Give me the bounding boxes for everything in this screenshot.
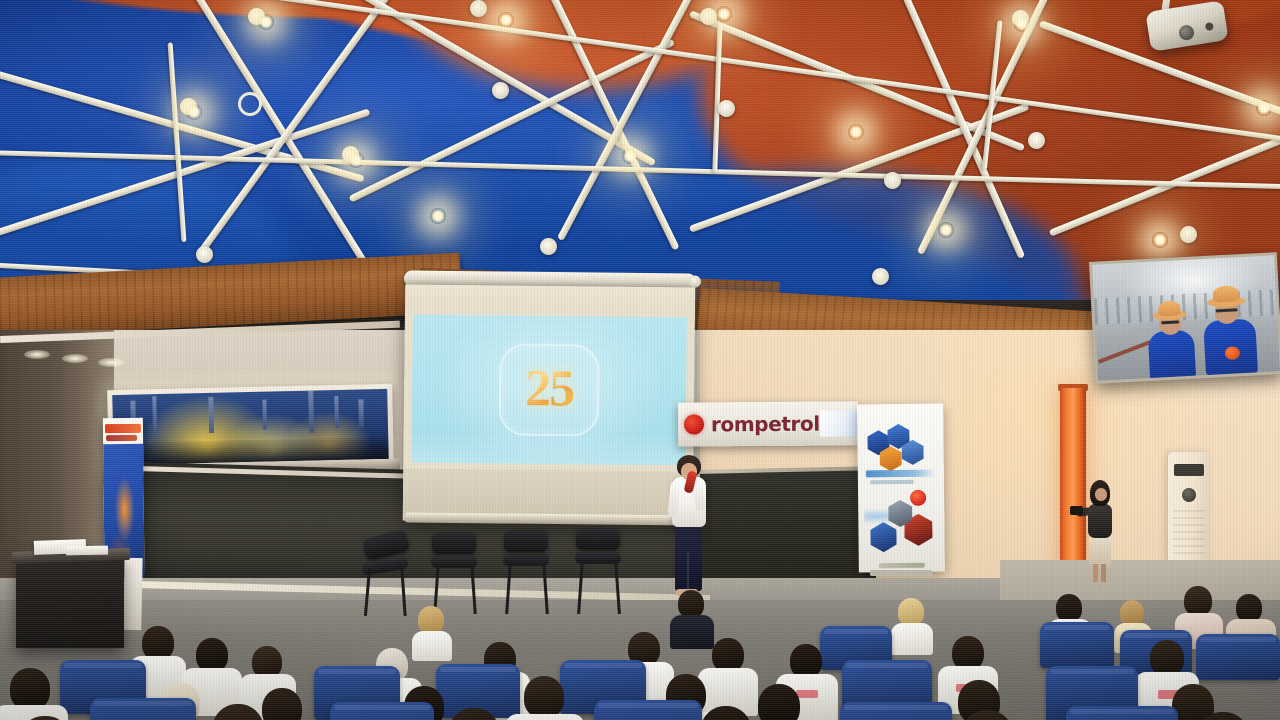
geodesic-dome-ceiling (0, 0, 1280, 300)
projected-slide: 25 (411, 315, 687, 466)
rompetrol-banner: rompetrol (678, 401, 858, 446)
audience (0, 560, 1280, 720)
ceiling-spotlight (498, 12, 514, 28)
ceiling-spotlight (186, 104, 202, 120)
ac-grille (1173, 510, 1205, 558)
ceiling-spotlight (1152, 232, 1168, 248)
slide-anniversary-number: 25 (525, 359, 574, 418)
documents-on-table (66, 546, 108, 556)
banner-blue-block (820, 410, 858, 436)
ceiling-spotlight (348, 152, 364, 168)
backlit-refinery-panorama (107, 384, 394, 470)
tablet-icon (1070, 506, 1083, 515)
rompetrol-wordmark: rompetrol (711, 412, 820, 437)
framed-refinery-photo (1089, 252, 1280, 384)
ceiling-spotlight (430, 208, 446, 224)
ac-display-panel (1174, 464, 1204, 476)
rompetrol-logo-mark-icon (684, 414, 704, 434)
rollup-banner-right (857, 404, 945, 573)
ceiling-spotlight (258, 14, 274, 30)
conference-hall-photo: Rompetrol 25th Anniversary Conference — … (0, 0, 1280, 720)
ceiling-spotlight (938, 222, 954, 238)
ceiling-spotlight (622, 148, 638, 164)
projection-screen: 25 (403, 284, 695, 523)
ceiling-spotlight (848, 124, 864, 140)
ceiling-spotlight (716, 6, 732, 22)
ceiling-spotlight (1014, 16, 1030, 32)
rollup-accent-dot-icon (910, 490, 926, 506)
ceiling-spotlight (1256, 100, 1272, 116)
ac-vent-icon (1182, 488, 1196, 502)
air-conditioner-unit[interactable] (1168, 452, 1210, 572)
